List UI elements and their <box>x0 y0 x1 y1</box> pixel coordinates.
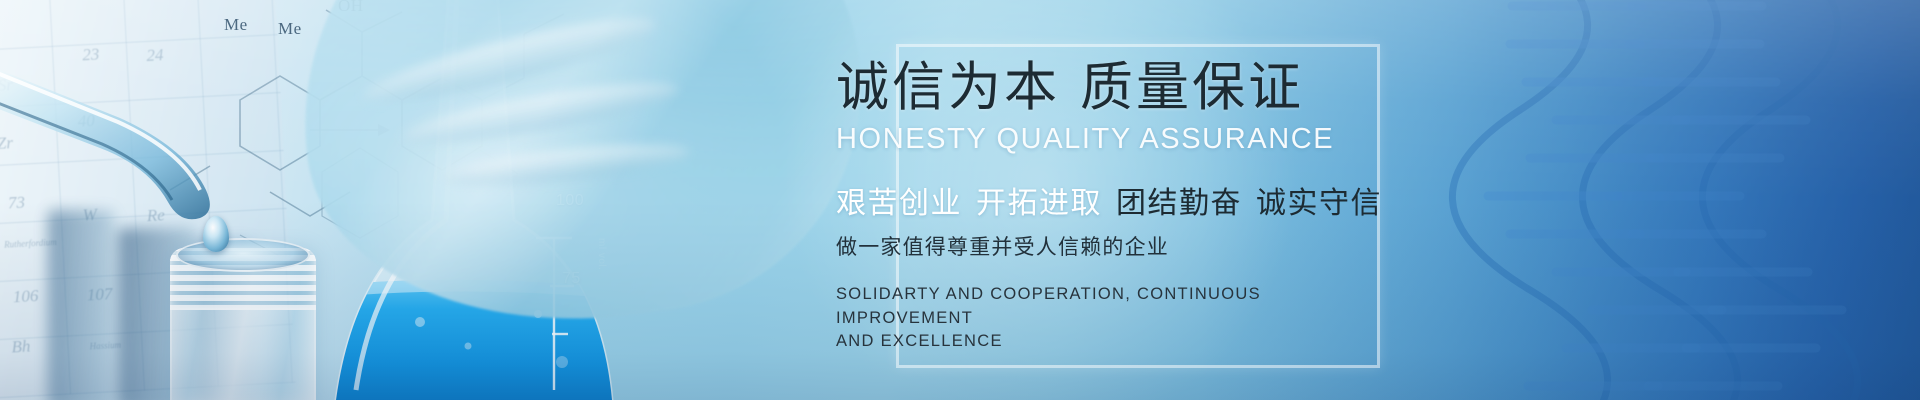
banner-copy-block: 诚信为本质量保证 HONESTY QUALITY ASSURANCE 艰苦创业开… <box>836 60 1596 354</box>
headline-english: HONESTY QUALITY ASSURANCE <box>836 123 1596 156</box>
slogan-part-1: 艰苦创业 <box>836 187 962 220</box>
slogan-part-4: 诚实守信 <box>1256 187 1382 220</box>
tagline-english: SOLIDARTY AND COOPERATION, CONTINUOUS IM… <box>836 283 1266 355</box>
subline-chinese: 做一家值得尊重并受人信赖的企业 <box>836 231 1596 261</box>
hero-banner: Sr2324Zr4073WReRutherfordium106107BhHass… <box>0 0 1920 400</box>
headline-part-2: 质量保证 <box>1080 58 1304 117</box>
tagline-english-line-2: AND EXCELLENCE <box>836 330 1266 354</box>
headline-chinese: 诚信为本质量保证 <box>836 60 1596 116</box>
slogan-part-3: 团结勤奋 <box>1116 187 1242 220</box>
tagline-english-line-1: SOLIDARTY AND COOPERATION, CONTINUOUS IM… <box>836 283 1266 331</box>
slogan-part-2: 开拓进取 <box>976 187 1102 220</box>
slogan-line: 艰苦创业开拓进取团结勤奋诚实守信 <box>836 186 1596 222</box>
headline-part-1: 诚信为本 <box>836 58 1060 117</box>
